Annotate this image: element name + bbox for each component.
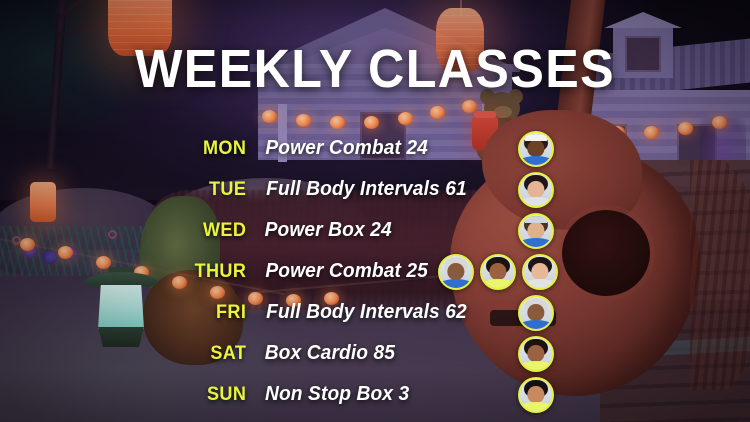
attendee-avatar-group bbox=[518, 131, 554, 167]
schedule-day-label: SAT bbox=[180, 343, 247, 365]
avatar-face bbox=[527, 345, 544, 363]
avatar[interactable] bbox=[480, 254, 516, 290]
avatar-shirt bbox=[518, 402, 554, 412]
avatar[interactable] bbox=[438, 254, 474, 290]
avatar-face bbox=[447, 263, 464, 281]
schedule-class-name: Power Combat 24 bbox=[265, 137, 428, 160]
schedule-class-name: Box Cardio 85 bbox=[265, 342, 395, 365]
schedule-row[interactable]: TUEFull Body Intervals 61 bbox=[0, 169, 750, 210]
schedule-day-label: SUN bbox=[180, 384, 247, 406]
avatar-face bbox=[527, 386, 544, 404]
weekly-schedule-list: MONPower Combat 24TUEFull Body Intervals… bbox=[0, 128, 750, 415]
schedule-day-label: TUE bbox=[180, 179, 247, 201]
attendee-avatar-group bbox=[518, 213, 554, 249]
avatar-face bbox=[527, 140, 544, 158]
porch-bulb bbox=[398, 112, 413, 125]
avatar-shirt bbox=[518, 238, 554, 248]
avatar-face bbox=[527, 181, 544, 199]
avatar-face bbox=[527, 304, 544, 322]
attendee-avatar-group bbox=[518, 172, 554, 208]
avatar[interactable] bbox=[518, 295, 554, 331]
schedule-day-label: MON bbox=[180, 138, 247, 160]
avatar-shirt bbox=[522, 279, 558, 289]
avatar[interactable] bbox=[518, 213, 554, 249]
attendee-avatar-group bbox=[518, 336, 554, 372]
schedule-class-name: Full Body Intervals 61 bbox=[266, 178, 467, 201]
porch-bulb bbox=[430, 106, 445, 119]
avatar-shirt bbox=[518, 156, 554, 166]
avatar[interactable] bbox=[518, 336, 554, 372]
schedule-row[interactable]: MONPower Combat 24 bbox=[0, 128, 750, 169]
avatar[interactable] bbox=[518, 131, 554, 167]
schedule-row[interactable]: THURPower Combat 25 bbox=[0, 251, 750, 292]
schedule-day-label: THUR bbox=[180, 261, 247, 283]
schedule-day-label: FRI bbox=[180, 302, 247, 324]
attendee-avatar-group bbox=[438, 254, 558, 290]
avatar-face bbox=[527, 222, 544, 240]
avatar[interactable] bbox=[518, 172, 554, 208]
avatar-shirt bbox=[518, 320, 554, 330]
porch-bulb bbox=[262, 110, 277, 123]
avatar-shirt bbox=[480, 279, 516, 289]
avatar-face bbox=[531, 263, 548, 281]
avatar[interactable] bbox=[522, 254, 558, 290]
porch-bulb bbox=[296, 114, 311, 127]
schedule-row[interactable]: SUNNon Stop Box 3 bbox=[0, 374, 750, 415]
schedule-row[interactable]: SATBox Cardio 85 bbox=[0, 333, 750, 374]
schedule-row[interactable]: FRIFull Body Intervals 62 bbox=[0, 292, 750, 333]
avatar-shirt bbox=[518, 197, 554, 207]
schedule-class-name: Power Combat 25 bbox=[265, 260, 428, 283]
schedule-class-name: Full Body Intervals 62 bbox=[266, 301, 467, 324]
attendee-avatar-group bbox=[518, 295, 554, 331]
avatar-headwear bbox=[525, 134, 547, 141]
schedule-class-name: Power Box 24 bbox=[265, 219, 392, 242]
avatar[interactable] bbox=[518, 377, 554, 413]
page-title: WEEKLY CLASSES bbox=[26, 38, 724, 100]
weekly-classes-screen: WEEKLY CLASSES MONPower Combat 24TUEFull… bbox=[0, 0, 750, 422]
avatar-shirt bbox=[518, 361, 554, 371]
schedule-row[interactable]: WEDPower Box 24 bbox=[0, 210, 750, 251]
attendee-avatar-group bbox=[518, 377, 554, 413]
avatar-face bbox=[489, 263, 506, 281]
schedule-class-name: Non Stop Box 3 bbox=[265, 383, 409, 406]
avatar-shirt bbox=[438, 279, 474, 289]
avatar-headwear bbox=[525, 216, 547, 223]
schedule-day-label: WED bbox=[180, 220, 247, 242]
